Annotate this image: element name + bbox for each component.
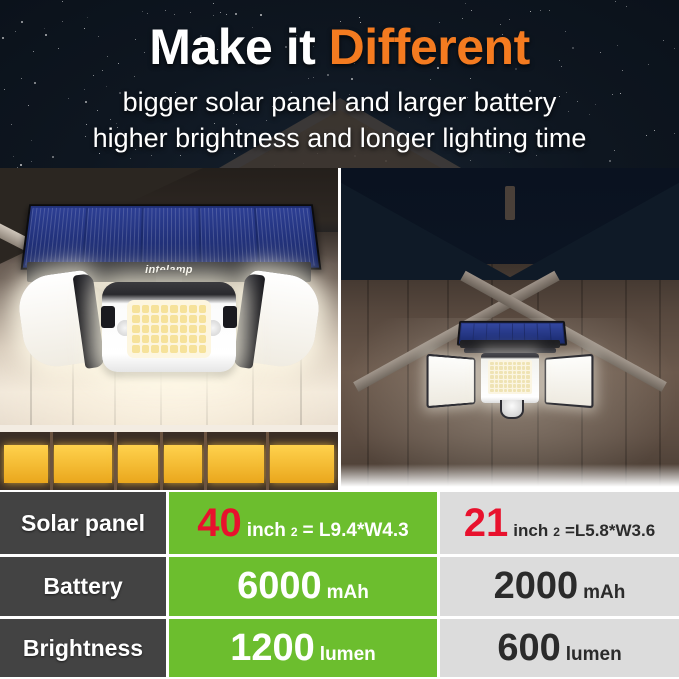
solar-panel-housing-small bbox=[460, 340, 560, 348]
ours-value-brightness: 1200 lumen bbox=[169, 619, 437, 677]
table-row: Brightness 1200 lumen 600 lumen bbox=[0, 619, 679, 677]
lamp-wing-right-small bbox=[545, 354, 594, 409]
photo-bottom-fade bbox=[341, 464, 679, 490]
led-array-large bbox=[127, 300, 211, 358]
table-row: Solar panel 40 inch 2 = L9.4*W4.3 21 inc… bbox=[0, 492, 679, 554]
solar-light-large: intelamp bbox=[17, 202, 321, 387]
theirs-value-battery: 2000 mAh bbox=[440, 557, 679, 616]
gable-shadow-left bbox=[341, 176, 515, 280]
ours-solar-panel-superscript: 2 bbox=[291, 525, 298, 539]
ours-brightness-number: 1200 bbox=[230, 631, 315, 665]
theirs-battery-number: 2000 bbox=[494, 569, 579, 603]
title-accent-text: Different bbox=[329, 19, 530, 75]
table-row: Battery 6000 mAh 2000 mAh bbox=[0, 557, 679, 616]
subtitle-line-1: bigger solar panel and larger battery bbox=[0, 88, 679, 117]
lamp-wing-left-small bbox=[426, 354, 475, 409]
led-array-small bbox=[488, 360, 532, 394]
row-label-solar-panel: Solar panel bbox=[0, 492, 166, 554]
ours-battery-unit: mAh bbox=[327, 582, 369, 604]
theirs-value-brightness: 600 lumen bbox=[440, 619, 679, 677]
title-plain-text: Make it bbox=[149, 19, 328, 75]
theirs-solar-panel-detail: =L5.8*W3.6 bbox=[565, 521, 655, 541]
header-banner: Make it Different bigger solar panel and… bbox=[0, 0, 679, 168]
ours-value-solar-panel: 40 inch 2 = L9.4*W4.3 bbox=[169, 492, 437, 554]
lamp-hinge-left bbox=[101, 306, 115, 328]
photo-left-our-product: intelamp bbox=[0, 168, 338, 490]
theirs-battery-unit: mAh bbox=[583, 582, 625, 604]
row-label-brightness: Brightness bbox=[0, 619, 166, 677]
ours-battery-number: 6000 bbox=[237, 569, 322, 603]
solar-light-small bbox=[424, 320, 596, 428]
theirs-value-solar-panel: 21 inch 2 =L5.8*W3.6 bbox=[440, 492, 679, 554]
product-photo-strip: intelamp bbox=[0, 168, 679, 490]
theirs-brightness-unit: lumen bbox=[566, 644, 622, 666]
roof-peak-post bbox=[505, 186, 515, 220]
gable-shadow-right bbox=[505, 176, 679, 280]
ours-solar-panel-number: 40 bbox=[197, 505, 242, 541]
ours-solar-panel-detail: = L9.4*W4.3 bbox=[303, 520, 409, 542]
ours-value-battery: 6000 mAh bbox=[169, 557, 437, 616]
page-title: Make it Different bbox=[0, 22, 679, 72]
row-label-battery: Battery bbox=[0, 557, 166, 616]
solar-panel-large bbox=[21, 204, 322, 269]
product-comparison-infographic: Make it Different bigger solar panel and… bbox=[0, 0, 679, 679]
comparison-table: Solar panel 40 inch 2 = L9.4*W4.3 21 inc… bbox=[0, 490, 679, 679]
lamp-hinge-right bbox=[223, 306, 237, 328]
theirs-brightness-number: 600 bbox=[497, 631, 560, 665]
subtitle-line-2: higher brightness and longer lighting ti… bbox=[0, 124, 679, 153]
photo-divider bbox=[338, 168, 341, 490]
theirs-solar-panel-superscript: 2 bbox=[553, 525, 560, 539]
motion-sensor-small bbox=[500, 400, 524, 419]
lit-windows-left bbox=[0, 425, 338, 490]
ours-solar-panel-unit: inch bbox=[247, 520, 286, 542]
theirs-solar-panel-number: 21 bbox=[464, 505, 509, 541]
theirs-solar-panel-unit: inch bbox=[513, 521, 548, 541]
photo-right-competitor-product bbox=[341, 168, 679, 490]
ours-brightness-unit: lumen bbox=[320, 644, 376, 666]
